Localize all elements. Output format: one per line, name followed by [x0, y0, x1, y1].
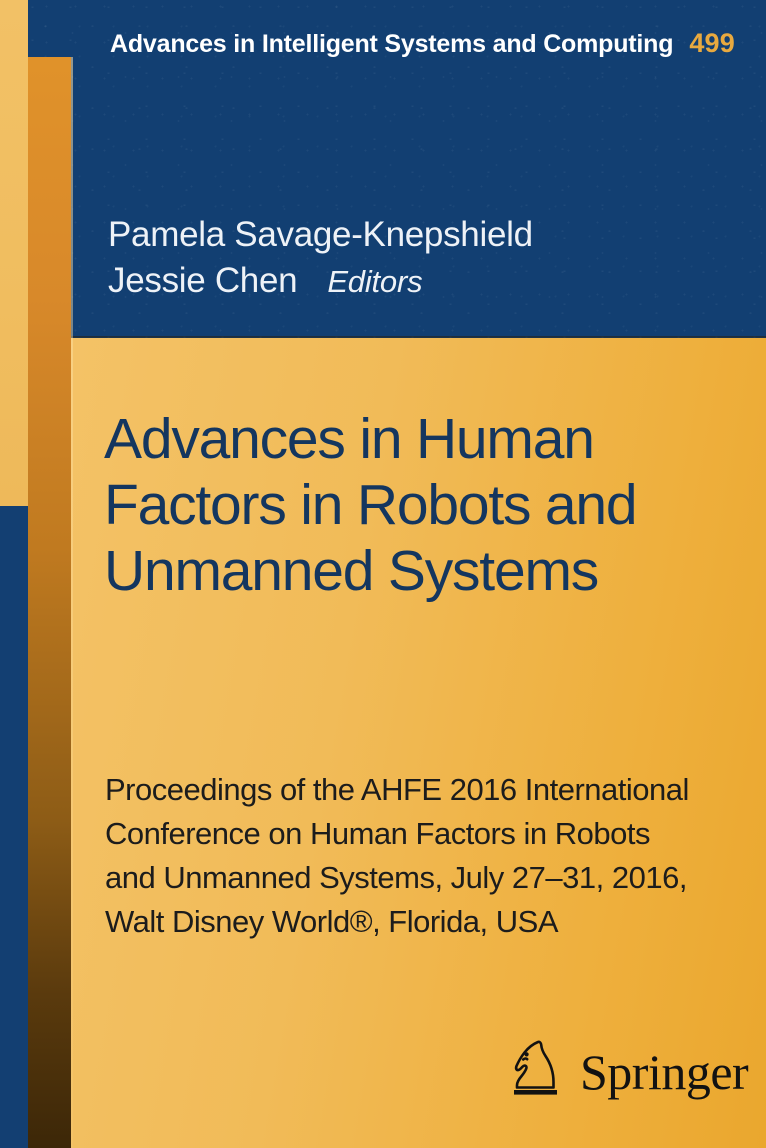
title-block: Advances in Human Factors in Robots and …: [104, 368, 704, 643]
editor-name-secondary: Jessie Chen: [108, 258, 297, 304]
spine-highlight-line: [71, 57, 73, 1148]
spine-edge-strip-yellow: [0, 0, 28, 506]
series-line: Advances in Intelligent Systems and Comp…: [110, 28, 735, 59]
editors-block: Pamela Savage-Knepshield Jessie Chen Edi…: [108, 212, 533, 303]
editor-name-primary: Pamela Savage-Knepshield: [108, 212, 533, 258]
springer-knight-icon: [508, 1038, 566, 1105]
spine-edge-strip-navy: [0, 506, 28, 1148]
book-subtitle: Proceedings of the AHFE 2016 Internation…: [105, 768, 705, 944]
editor-row-secondary: Jessie Chen Editors: [108, 258, 533, 304]
series-volume-number: 499: [689, 28, 735, 59]
publisher-name: Springer: [580, 1047, 748, 1097]
editors-role-label: Editors: [327, 264, 422, 300]
book-cover: Advances in Intelligent Systems and Comp…: [0, 0, 766, 1148]
book-title: Advances in Human Factors in Robots and …: [104, 406, 704, 604]
subtitle-block: Proceedings of the AHFE 2016 Internation…: [105, 737, 705, 975]
spine-gradient-band: [28, 57, 71, 1148]
series-title: Advances in Intelligent Systems and Comp…: [110, 30, 673, 59]
publisher-logo: Springer: [508, 1038, 748, 1105]
